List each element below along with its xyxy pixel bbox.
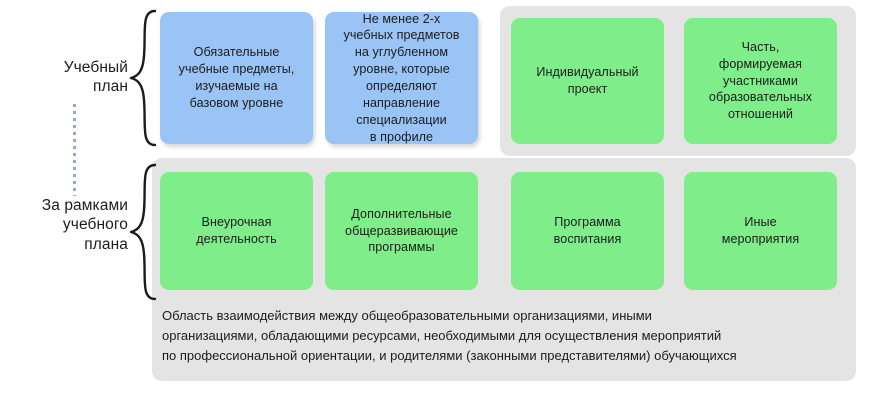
row-label-curriculum: Учебный план [10,58,128,97]
card-individual-project[interactable]: Индивидуальный проект [511,18,664,144]
row-label-beyond-curriculum: За рамками учебного плана [10,196,128,254]
curriculum-structure-diagram: Учебный план За рамками учебного плана О… [0,0,870,400]
card-supplementary-programs[interactable]: Дополнительные общеразвивающие программы [325,172,478,290]
dotted-connector-line [73,104,76,196]
row-label-column: Учебный план За рамками учебного плана [0,0,128,400]
footer-note-interaction-area: Область взаимодействия между общеобразов… [162,306,852,365]
card-upbringing-program[interactable]: Программа воспитания [511,172,664,290]
card-extracurricular-activity[interactable]: Внеурочная деятельность [160,172,313,290]
card-mandatory-subjects[interactable]: Обязательные учебные предметы, изучаемые… [160,12,313,144]
card-advanced-subjects[interactable]: Не менее 2-х учебных предметов на углубл… [325,12,478,144]
curly-brace-curriculum-icon [128,8,158,148]
curly-brace-beyond-icon [128,162,158,302]
card-other-events[interactable]: Иные мероприятия [684,172,837,290]
card-participant-formed-part[interactable]: Часть, формируемая участниками образоват… [684,18,837,144]
